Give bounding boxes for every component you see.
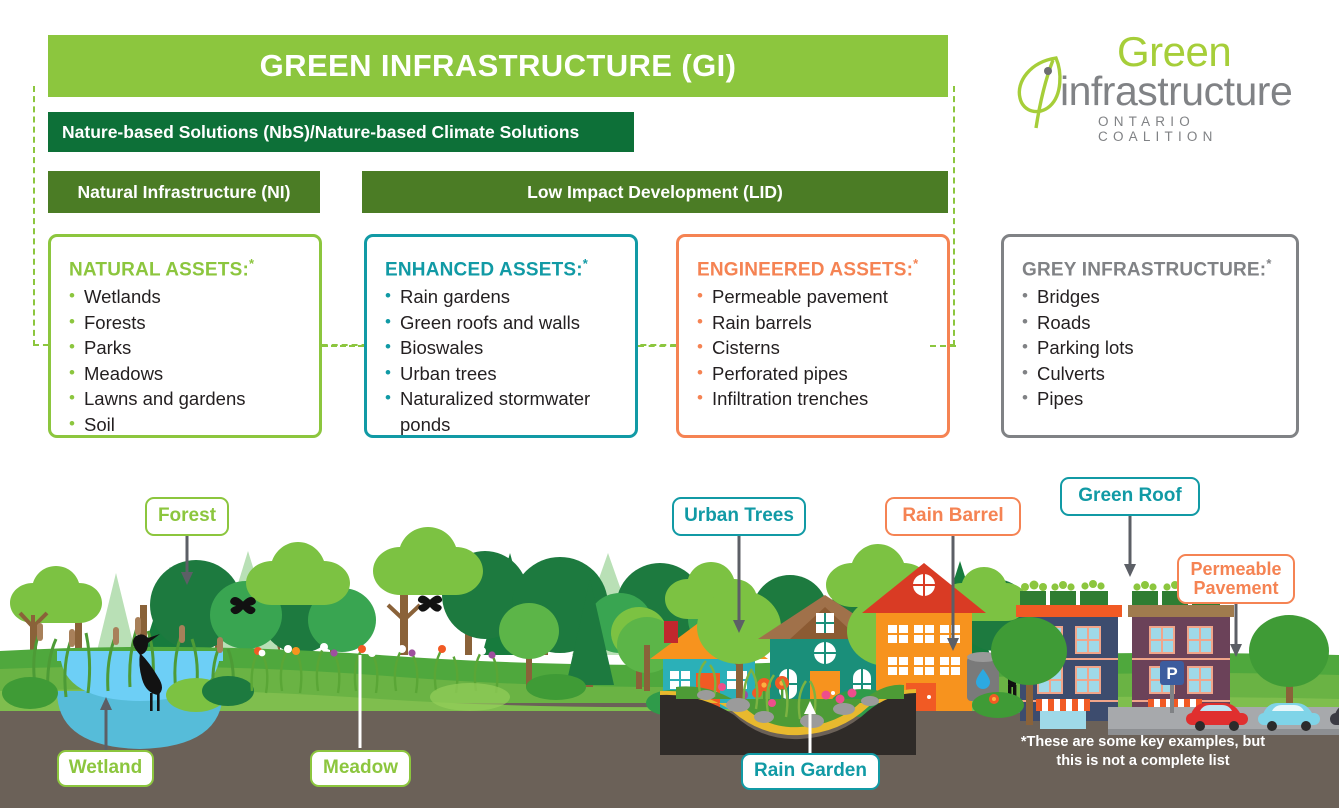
nbs-bar: Nature-based Solutions (NbS)/Nature-base… [48, 112, 634, 152]
list-item: Bioswales [385, 335, 619, 361]
list-item: Infiltration trenches [697, 386, 931, 412]
label-wetland[interactable]: Wetland [57, 750, 154, 787]
footnote-line2: this is not a complete list [992, 752, 1294, 771]
list-item: Urban trees [385, 361, 619, 387]
logo-word-infrastructure: infrastructure [1060, 68, 1292, 115]
low-impact-development-bar: Low Impact Development (LID) [362, 171, 948, 213]
grey-infrastructure-list: Bridges Roads Parking lots Culverts Pipe… [1022, 284, 1280, 412]
label-urban-trees[interactable]: Urban Trees [672, 497, 806, 536]
engineered-assets-heading: ENGINEERED ASSETS:* [697, 256, 931, 281]
list-item: Rain barrels [697, 310, 931, 336]
enhanced-assets-list: Rain gardens Green roofs and walls Biosw… [385, 284, 619, 437]
list-item: Parks [69, 335, 303, 361]
label-forest[interactable]: Forest [145, 497, 229, 536]
list-item: Soil [69, 412, 303, 438]
grey-infrastructure-card: GREY INFRASTRUCTURE:* Bridges Roads Park… [1001, 234, 1299, 438]
gi-ontario-coalition-logo: Green infrastructure ONTARIO COALITION [1012, 28, 1302, 138]
engineered-assets-list: Permeable pavement Rain barrels Cisterns… [697, 284, 931, 412]
natural-assets-asterisk: * [249, 256, 254, 271]
dashed-connector-3 [930, 345, 956, 347]
infographic-root: GREEN INFRASTRUCTURE (GI) Nature-based S… [0, 0, 1339, 808]
list-item: Forests [69, 310, 303, 336]
natural-assets-list: Wetlands Forests Parks Meadows Lawns and… [69, 284, 303, 437]
logo-i-letter: i [1060, 68, 1069, 114]
enhanced-assets-card: ENHANCED ASSETS:* Rain gardens Green roo… [364, 234, 638, 438]
list-item: Bridges [1022, 284, 1280, 310]
label-rain-garden[interactable]: Rain Garden [741, 753, 880, 790]
list-item: Naturalized stormwater ponds [385, 386, 619, 437]
natural-assets-card: NATURAL ASSETS:* Wetlands Forests Parks … [48, 234, 322, 438]
list-item: Parking lots [1022, 335, 1280, 361]
enhanced-assets-asterisk: * [583, 256, 588, 271]
enhanced-assets-heading-text: ENHANCED ASSETS: [385, 259, 583, 280]
list-item: Roads [1022, 310, 1280, 336]
logo-infrastructure-rest: nfrastructure [1069, 68, 1293, 114]
grey-infrastructure-asterisk: * [1266, 256, 1271, 271]
list-item: Wetlands [69, 284, 303, 310]
footnote: *These are some key examples, but this i… [992, 733, 1294, 771]
grey-infrastructure-heading-text: GREY INFRASTRUCTURE: [1022, 259, 1266, 280]
natural-assets-heading-text: NATURAL ASSETS: [69, 259, 249, 280]
label-meadow[interactable]: Meadow [310, 750, 411, 787]
engineered-assets-heading-text: ENGINEERED ASSETS: [697, 259, 913, 280]
list-item: Pipes [1022, 386, 1280, 412]
natural-assets-heading: NATURAL ASSETS:* [69, 256, 303, 281]
list-item: Cisterns [697, 335, 931, 361]
engineered-assets-card: ENGINEERED ASSETS:* Permeable pavement R… [676, 234, 950, 438]
label-green-roof[interactable]: Green Roof [1060, 477, 1200, 516]
footnote-line1: *These are some key examples, but [992, 733, 1294, 752]
enhanced-assets-heading: ENHANCED ASSETS:* [385, 256, 619, 281]
page-title: GREEN INFRASTRUCTURE (GI) [48, 35, 948, 97]
dashed-connector-1 [322, 345, 364, 347]
grey-infrastructure-heading: GREY INFRASTRUCTURE:* [1022, 256, 1280, 281]
list-item: Rain gardens [385, 284, 619, 310]
engineered-assets-asterisk: * [913, 256, 918, 271]
natural-infrastructure-bar: Natural Infrastructure (NI) [48, 171, 320, 213]
list-item: Perforated pipes [697, 361, 931, 387]
list-item: Lawns and gardens [69, 386, 303, 412]
label-rain-barrel[interactable]: Rain Barrel [885, 497, 1021, 536]
dashed-connector-2 [638, 345, 676, 347]
list-item: Culverts [1022, 361, 1280, 387]
list-item: Permeable pavement [697, 284, 931, 310]
list-item: Meadows [69, 361, 303, 387]
label-permeable-line1: Permeable [1190, 560, 1281, 579]
logo-subtitle: ONTARIO COALITION [1098, 114, 1302, 144]
label-permeable-line2: Pavement [1190, 579, 1281, 598]
list-item: Green roofs and walls [385, 310, 619, 336]
label-permeable-pavement[interactable]: Permeable Pavement [1177, 554, 1295, 604]
svg-text:P: P [1166, 664, 1177, 683]
